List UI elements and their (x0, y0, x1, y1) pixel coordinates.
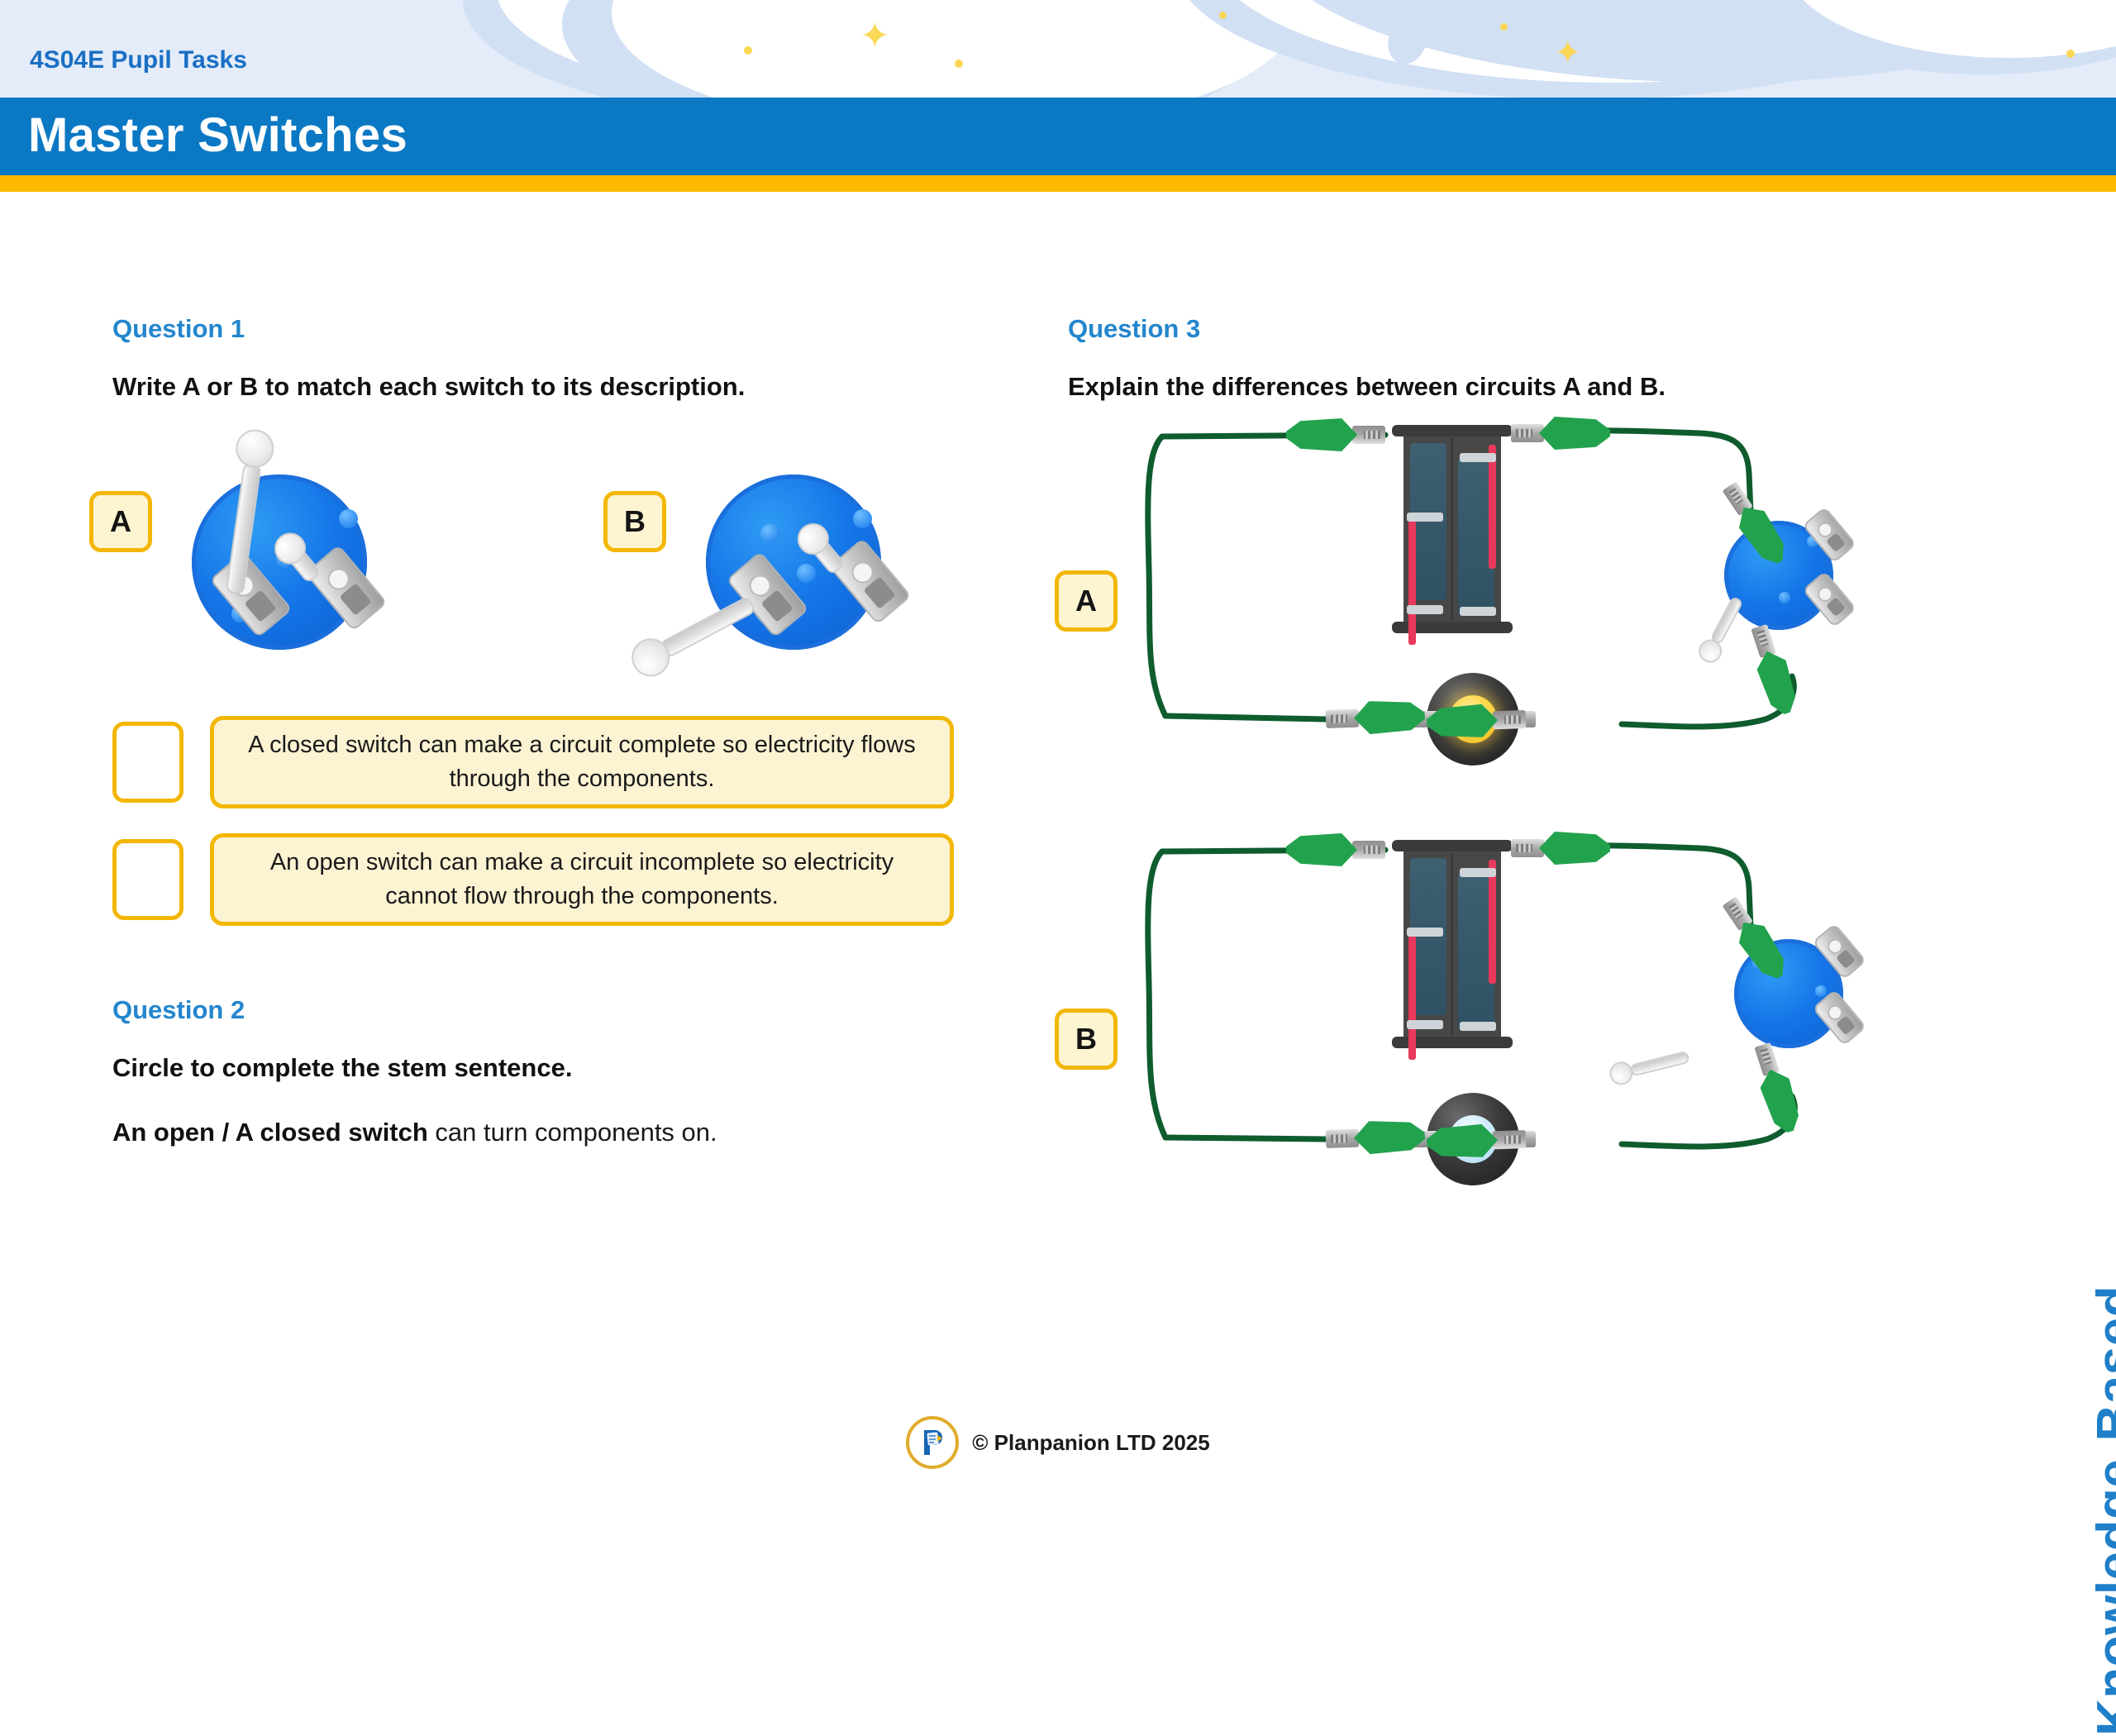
logo-mark (915, 1425, 950, 1460)
switch-a-bump-1 (339, 509, 358, 528)
circuit-b-clip-jaw-1 (1352, 841, 1385, 859)
circuit-a-battery-cap-top (1392, 425, 1513, 436)
circuit-a-clip-jaw-5 (1326, 709, 1360, 728)
circuit-a-battery (1404, 430, 1501, 628)
circuit-a-block: A (1068, 432, 1944, 795)
switch-b-illustration (691, 427, 947, 675)
stem-remainder: can turn components on. (428, 1118, 717, 1147)
wave-blob-4 (612, 0, 1298, 106)
category-side-label: Knowledge-Based (2086, 1285, 2116, 1736)
answer-box-2[interactable] (112, 839, 183, 920)
question-1-instruction: Write A or B to match each switch to its… (112, 372, 1063, 402)
circuit-b-terminal-strip-right (1489, 860, 1496, 984)
switch-b-bump-2 (760, 524, 779, 543)
question-2-instruction: Circle to complete the stem sentence. (112, 1053, 1063, 1083)
circuit-a-contact-tab-2 (1460, 453, 1496, 462)
switch-a-lever-knob (233, 427, 276, 470)
circuit-b-battery-cap-top (1392, 840, 1513, 851)
circuit-a-contact-tab-1 (1407, 513, 1443, 522)
circuit-b-diagram (1137, 818, 1964, 1166)
circuit-b-block: B (1068, 847, 1944, 1210)
page-footer: © Planpanion LTD 2025 (0, 1405, 2116, 1480)
switch-b-lever-closed (631, 594, 757, 674)
circuit-a-terminal-strip-right (1489, 445, 1496, 569)
circuit-b-battery (1404, 845, 1501, 1043)
circuit-b-battery-divider (1451, 853, 1453, 1035)
title-band: Master Switches (0, 98, 2116, 175)
circuit-b-contact-tab-4 (1407, 1020, 1443, 1029)
circuit-a-clip-jaw-1 (1352, 426, 1385, 444)
dot-icon-3 (1219, 12, 1227, 19)
switch-b-bump-1 (853, 509, 872, 528)
circuit-a-terminal-strip-left (1408, 521, 1416, 645)
description-text-1: A closed switch can make a circuit compl… (210, 716, 954, 808)
copyright-text: © Planpanion LTD 2025 (972, 1430, 1209, 1456)
star-icon-1: ✦ (860, 18, 890, 55)
circuit-b-contact-tab-3 (1460, 1022, 1496, 1031)
stem-bold-options[interactable]: An open / A closed switch (112, 1118, 428, 1147)
star-icon-2: ✦ (1554, 36, 1582, 69)
dot-icon-5 (2066, 50, 2075, 58)
description-text-2: An open switch can make a circuit incomp… (210, 833, 954, 926)
circuit-a-contact-tab-3 (1460, 607, 1496, 616)
description-row-1: A closed switch can make a circuit compl… (112, 716, 1063, 808)
dot-icon-4 (1500, 23, 1508, 31)
page-title: Master Switches (28, 107, 407, 163)
circuit-b-contact-tab-2 (1460, 868, 1496, 877)
circuit-label-a: A (1055, 570, 1118, 632)
circuit-label-b: B (1055, 1009, 1118, 1070)
description-row-2: An open switch can make a circuit incomp… (112, 833, 1063, 926)
dot-icon-1 (744, 46, 752, 55)
question-2-heading: Question 2 (112, 995, 1063, 1025)
question-1-heading: Question 1 (112, 314, 1063, 344)
question-3-instruction: Explain the differences between circuits… (1068, 372, 1944, 402)
circuit-b-clip-jaw-6 (1493, 1130, 1527, 1149)
question-2-stem: An open / A closed switch can turn compo… (112, 1118, 1063, 1147)
switch-label-b: B (603, 491, 666, 552)
switch-comparison-row: A (112, 427, 1063, 683)
question-3-heading: Question 3 (1068, 314, 1944, 344)
description-match-group: A closed switch can make a circuit compl… (112, 716, 1063, 926)
planpanion-logo-icon (906, 1416, 959, 1469)
switch-label-a: A (89, 491, 152, 552)
circuit-b-switch-bump-2 (1815, 985, 1827, 997)
circuit-a-battery-divider (1451, 438, 1453, 620)
circuit-a-diagram (1137, 403, 1964, 751)
switch-a-illustration (177, 427, 433, 675)
switch-b-bump-3 (797, 564, 816, 583)
circuit-a-clip-jaw-6 (1493, 710, 1527, 729)
circuit-a-contact-tab-4 (1407, 605, 1443, 614)
question-2-block: Question 2 Circle to complete the stem s… (112, 995, 1063, 1147)
answer-box-1[interactable] (112, 722, 183, 803)
circuit-a-switch-bump-2 (1779, 592, 1790, 603)
circuit-b-clip-jaw-5 (1326, 1129, 1360, 1148)
right-column: Question 3 Explain the differences betwe… (1068, 314, 1944, 1210)
circuit-b-terminal-strip-left (1408, 936, 1416, 1060)
page-header: ✦ ✦ 4S04E Pupil Tasks Master Switches (0, 0, 2116, 215)
dot-icon-2 (955, 60, 963, 68)
page-kicker: 4S04E Pupil Tasks (30, 46, 247, 74)
accent-strip (0, 175, 2116, 192)
circuit-b-contact-tab-1 (1407, 928, 1443, 937)
left-column: Question 1 Write A or B to match each sw… (112, 314, 1063, 1147)
header-decoration: ✦ ✦ (0, 0, 2116, 106)
